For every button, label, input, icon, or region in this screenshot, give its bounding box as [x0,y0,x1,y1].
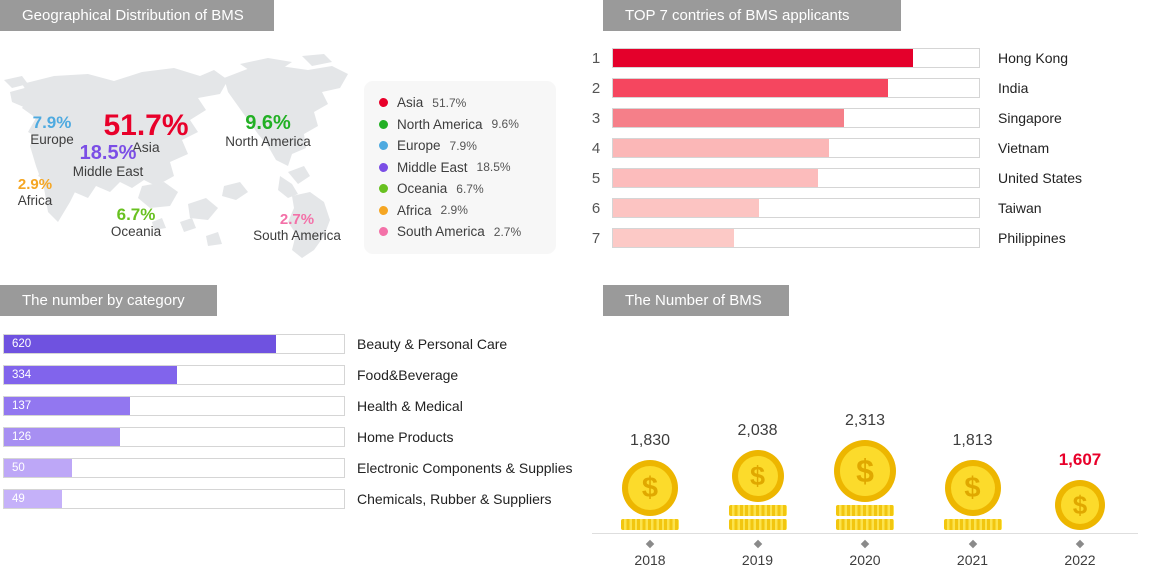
coin-stack-2019: $ [706,450,810,530]
rank-number: 1 [580,50,612,67]
bar-fill [613,139,829,157]
legend-label: North America [397,117,483,132]
map-label-north-america: 9.6% North America [198,113,338,149]
dollar-coin-icon: $ [1055,480,1105,530]
axis-year-label: 2020 [813,552,917,568]
bar-value-label: 137 [12,397,31,415]
rank-number: 7 [580,230,612,247]
diamond-tick-icon [753,540,761,548]
coin-stack-2020: $ [813,440,917,530]
coin-stack-bar [729,505,787,516]
bar-track [612,138,980,158]
table-row[interactable]: 3Singapore [580,103,1150,133]
panel-top7-countries: TOP 7 contries of BMS applicants 1Hong K… [580,0,1150,283]
legend-label: Europe [397,138,441,153]
panel-title-top7: TOP 7 contries of BMS applicants [603,0,901,31]
axis-year-label: 2021 [921,552,1025,568]
bar-track: 620 [3,334,345,354]
country-label: Vietnam [998,140,1049,156]
table-row[interactable]: 126Home Products [0,421,575,452]
rank-number: 3 [580,110,612,127]
bar-track [612,78,980,98]
bar-track: 334 [3,365,345,385]
rank-number: 4 [580,140,612,157]
bar-value-label: 50 [12,459,25,477]
coin-dollar-glyph: $ [1061,486,1099,524]
map-label-africa: 2.9% Africa [0,177,75,208]
country-label: India [998,80,1028,96]
map-pct-middle-east: 18.5% [48,143,168,164]
category-label: Electronic Components & Supplies [357,460,573,476]
legend-dot-icon [379,120,388,129]
bar-track: 126 [3,427,345,447]
table-row[interactable]: 7Philippines [580,223,1150,253]
bms-axis-line [592,533,1138,534]
legend-dot-icon [379,163,388,172]
legend-item-middle-east[interactable]: Middle East18.5% [379,157,556,179]
diamond-tick-icon [968,540,976,548]
legend-dot-icon [379,227,388,236]
bar-fill [613,169,818,187]
legend-dot-icon [379,141,388,150]
map-pct-asia: 51.7% [86,110,206,142]
legend-value: 7.9% [450,139,477,153]
country-label: Singapore [998,110,1062,126]
bar-track [612,198,980,218]
map-pct-europe: 7.9% [10,114,94,132]
coin-stack-bar [836,519,894,530]
bar-fill [613,199,759,217]
legend-value: 51.7% [432,96,466,110]
legend-dot-icon [379,98,388,107]
rank-number: 5 [580,170,612,187]
dollar-coin-icon: $ [945,460,1001,516]
axis-tick-2021: 2021 [921,535,1025,568]
map-name-north-america: North America [198,135,338,149]
diamond-tick-icon [861,540,869,548]
table-row[interactable]: 50Electronic Components & Supplies [0,452,575,483]
legend-item-oceania[interactable]: Oceania6.7% [379,178,556,200]
legend-item-europe[interactable]: Europe7.9% [379,135,556,157]
legend-dot-icon [379,206,388,215]
legend-item-africa[interactable]: Africa2.9% [379,200,556,222]
coin-stack-bar [836,505,894,516]
category-label: Home Products [357,429,453,445]
bar-track [612,108,980,128]
bar-track: 137 [3,396,345,416]
axis-year-label: 2019 [706,552,810,568]
bms-value-label-2020: 2,313 [813,412,917,430]
bar-fill [613,229,734,247]
bms-value-label-2022: 1,607 [1028,450,1132,470]
bar-fill [613,49,913,67]
legend-value: 2.7% [494,225,521,239]
table-row[interactable]: 6Taiwan [580,193,1150,223]
bar-fill [4,335,276,353]
diamond-tick-icon [646,540,654,548]
panel-title-category: The number by category [0,285,217,316]
axis-tick-2022: 2022 [1028,535,1132,568]
bar-value-label: 334 [12,366,31,384]
table-row[interactable]: 137Health & Medical [0,390,575,421]
bar-value-label: 620 [12,335,31,353]
bar-track [612,48,980,68]
bar-fill [613,109,844,127]
bar-fill [613,79,888,97]
bms-value-label-2021: 1,813 [921,432,1025,450]
country-label: Taiwan [998,200,1042,216]
coin-dollar-glyph: $ [628,466,672,510]
category-label: Beauty & Personal Care [357,336,507,352]
table-row[interactable]: 1Hong Kong [580,43,1150,73]
country-label: United States [998,170,1082,186]
map-legend: Asia51.7%North America9.6%Europe7.9%Midd… [364,81,556,254]
legend-value: 18.5% [477,160,511,174]
panel-number-of-bms: The Number of BMS $1,830$2,038$2,313$1,8… [580,285,1150,560]
coin-stack-2022: $ [1028,480,1132,530]
coin-stack-2021: $ [921,460,1025,530]
bms-axis-ticks: 20182019202020212022 [598,535,1132,577]
world-map: 7.9% Europe 51.7% Asia 18.5% Middle East… [0,38,360,268]
table-row[interactable]: 334Food&Beverage [0,359,575,390]
map-label-oceania: 6.7% Oceania [94,206,178,239]
legend-label: Asia [397,95,423,110]
panel-title-bms: The Number of BMS [603,285,789,316]
bar-track: 50 [3,458,345,478]
axis-tick-2019: 2019 [706,535,810,568]
category-label: Health & Medical [357,398,463,414]
coin-stack-bar [944,519,1002,530]
category-label: Chemicals, Rubber & Suppliers [357,491,552,507]
map-name-africa: Africa [0,194,75,208]
rank-number: 2 [580,80,612,97]
bms-coin-chart: $1,830$2,038$2,313$1,813$1,607 [598,340,1132,530]
legend-value: 6.7% [456,182,483,196]
map-label-south-america: 2.7% South America [222,212,372,243]
map-pct-north-america: 9.6% [198,113,338,134]
legend-label: Africa [397,203,432,218]
panel-number-by-category: The number by category 620Beauty & Perso… [0,285,575,560]
legend-item-south-america[interactable]: South America2.7% [379,221,556,243]
map-pct-africa: 2.9% [0,177,75,193]
coin-stack-bar [729,519,787,530]
dollar-coin-icon: $ [732,450,784,502]
bar-track [612,168,980,188]
bar-track: 49 [3,489,345,509]
legend-label: South America [397,224,485,239]
legend-label: Oceania [397,181,447,196]
panel-geographical-distribution: Geographical Distribution of BMS [0,0,575,283]
axis-year-label: 2022 [1028,552,1132,568]
bar-value-label: 126 [12,428,31,446]
bms-value-label-2019: 2,038 [706,422,810,440]
coin-dollar-glyph: $ [840,446,890,496]
table-row[interactable]: 4Vietnam [580,133,1150,163]
map-label-middle-east: 18.5% Middle East [48,143,168,179]
legend-item-asia[interactable]: Asia51.7% [379,92,556,114]
diamond-tick-icon [1076,540,1084,548]
legend-item-north-america[interactable]: North America9.6% [379,114,556,136]
country-label: Philippines [998,230,1066,246]
axis-tick-2018: 2018 [598,535,702,568]
dollar-coin-icon: $ [622,460,678,516]
bar-track [612,228,980,248]
bar-value-label: 49 [12,490,25,508]
category-label: Food&Beverage [357,367,458,383]
rank-number: 6 [580,200,612,217]
legend-label: Middle East [397,160,468,175]
table-row[interactable]: 49Chemicals, Rubber & Suppliers [0,483,575,514]
legend-dot-icon [379,184,388,193]
top7-bar-list: 1Hong Kong2India3Singapore4Vietnam5Unite… [580,43,1150,253]
coin-dollar-glyph: $ [951,466,995,510]
category-bar-list: 620Beauty & Personal Care334Food&Beverag… [0,328,575,514]
coin-stack-2018: $ [598,460,702,530]
coin-stack-bar [621,519,679,530]
dollar-coin-icon: $ [834,440,896,502]
map-pct-oceania: 6.7% [94,206,178,224]
table-row[interactable]: 620Beauty & Personal Care [0,328,575,359]
legend-value: 2.9% [441,203,468,217]
map-name-oceania: Oceania [94,225,178,239]
axis-tick-2020: 2020 [813,535,917,568]
table-row[interactable]: 5United States [580,163,1150,193]
coin-dollar-glyph: $ [738,456,778,496]
country-label: Hong Kong [998,50,1068,66]
bms-value-label-2018: 1,830 [598,432,702,450]
map-name-south-america: South America [222,229,372,243]
axis-year-label: 2018 [598,552,702,568]
map-pct-south-america: 2.7% [222,212,372,228]
panel-title-geographical: Geographical Distribution of BMS [0,0,274,31]
table-row[interactable]: 2India [580,73,1150,103]
legend-value: 9.6% [492,117,519,131]
